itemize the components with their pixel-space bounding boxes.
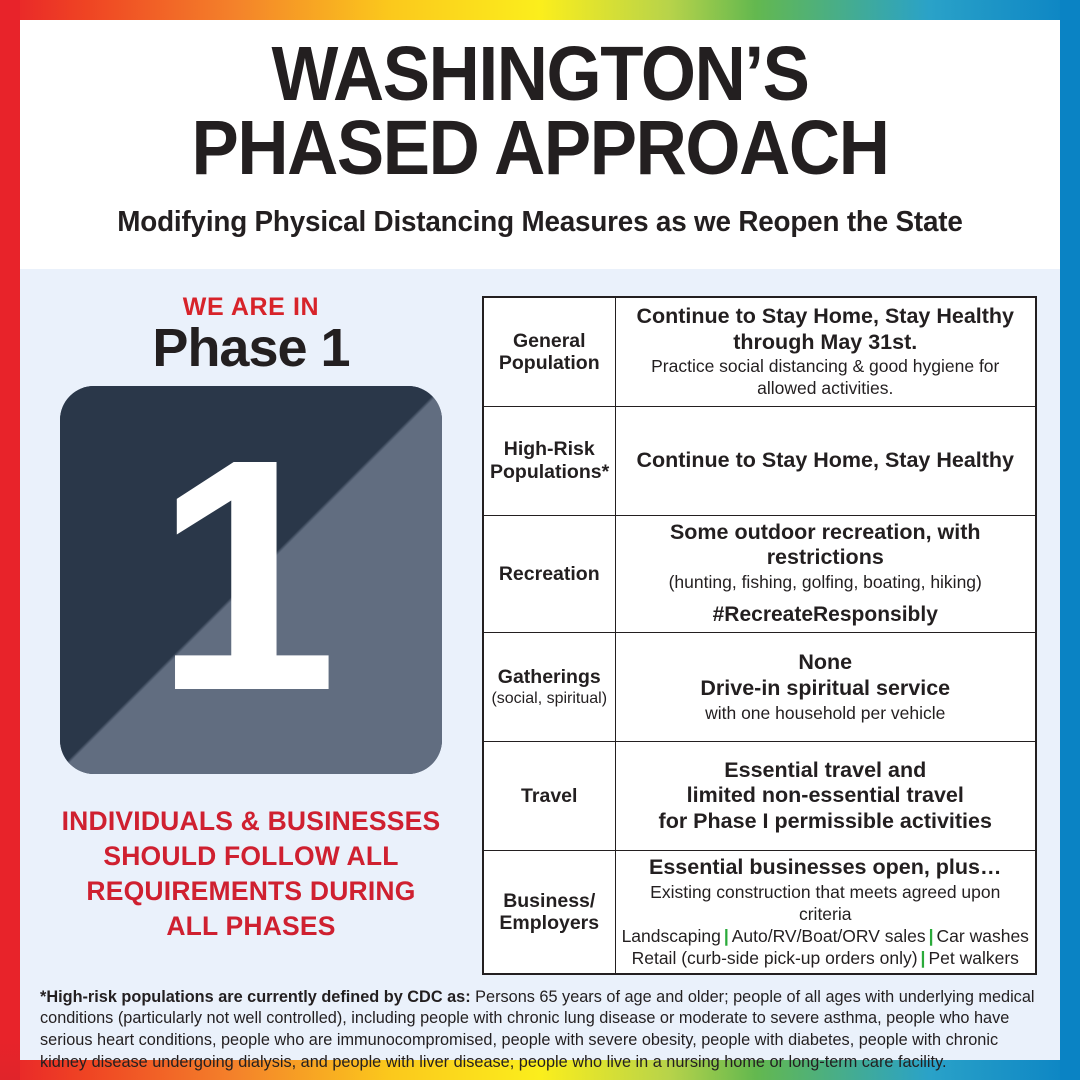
separator-pipe-icon: | bbox=[926, 926, 937, 946]
table-row: Business/EmployersEssential businesses o… bbox=[483, 851, 1036, 974]
table-row-category: GeneralPopulation bbox=[483, 297, 615, 406]
detail-line: None bbox=[622, 650, 1030, 676]
detail-line: Retail (curb-side pick-up orders only)|P… bbox=[622, 947, 1030, 969]
page-title-line-1: WASHINGTON’S bbox=[62, 38, 1019, 112]
table-row: TravelEssential travel andlimited non-es… bbox=[483, 742, 1036, 851]
detail-line: (hunting, fishing, golfing, boating, hik… bbox=[622, 571, 1030, 593]
detail-line: Landscaping|Auto/RV/Boat/ORV sales|Car w… bbox=[622, 925, 1030, 947]
rainbow-border-top bbox=[0, 0, 1080, 20]
table-row: High-RiskPopulations*Continue to Stay Ho… bbox=[483, 406, 1036, 515]
category-main: Gatherings bbox=[498, 666, 601, 688]
detail-line: limited non-essential travel bbox=[622, 783, 1030, 809]
detail-line: Continue to Stay Home, Stay Healthy bbox=[622, 448, 1030, 474]
table-row: GeneralPopulationContinue to Stay Home, … bbox=[483, 297, 1036, 406]
phase-number-glyph: 1 bbox=[60, 386, 442, 774]
poster-inner: WASHINGTON’S PHASED APPROACH Modifying P… bbox=[20, 20, 1060, 1060]
category-main: Recreation bbox=[499, 563, 600, 585]
border-right-blue bbox=[1060, 0, 1080, 1080]
phase-guidelines-table: GeneralPopulationContinue to Stay Home, … bbox=[482, 296, 1037, 975]
separator-pipe-icon: | bbox=[721, 926, 732, 946]
requirements-callout-line-1: INDIVIDUALS & BUSINESSES bbox=[28, 804, 474, 839]
footnote-lead: *High-risk populations are currently def… bbox=[40, 988, 471, 1006]
requirements-callout: INDIVIDUALS & BUSINESSES SHOULD FOLLOW A… bbox=[28, 804, 474, 945]
detail-line: Practice social distancing & good hygien… bbox=[622, 355, 1030, 399]
detail-segment: Pet walkers bbox=[928, 948, 1018, 968]
category-main-2: Populations* bbox=[490, 461, 609, 483]
poster-header: WASHINGTON’S PHASED APPROACH Modifying P… bbox=[20, 20, 1060, 269]
category-main: Travel bbox=[521, 785, 577, 807]
detail-line: Drive-in spiritual service bbox=[622, 676, 1030, 702]
category-main-2: Population bbox=[499, 352, 600, 374]
phase-number-badge: 1 bbox=[60, 386, 442, 774]
category-main-2: Employers bbox=[499, 912, 599, 934]
table-row-category: Gatherings(social, spiritual) bbox=[483, 633, 615, 742]
separator-pipe-icon: | bbox=[918, 948, 929, 968]
detail-segment: Auto/RV/Boat/ORV sales bbox=[732, 926, 926, 946]
category-main: General bbox=[513, 330, 586, 352]
detail-line: for Phase I permissible activities bbox=[622, 809, 1030, 835]
category-main: Business/ bbox=[503, 890, 595, 912]
requirements-callout-line-4: ALL PHASES bbox=[28, 909, 474, 944]
guidelines-table-body: GeneralPopulationContinue to Stay Home, … bbox=[483, 297, 1036, 974]
table-row-detail: Essential businesses open, plus…Existing… bbox=[615, 851, 1036, 974]
detail-segment: Car washes bbox=[937, 926, 1029, 946]
poster-body: WE ARE IN Phase 1 1 INDIVIDUALS & BUSINE… bbox=[20, 269, 1060, 975]
page-title-line-2: PHASED APPROACH bbox=[62, 112, 1019, 186]
high-risk-footnote: *High-risk populations are currently def… bbox=[20, 975, 1060, 1080]
table-row-detail: NoneDrive-in spiritual servicewith one h… bbox=[615, 633, 1036, 742]
table-row-detail: Continue to Stay Home, Stay Healthy bbox=[615, 406, 1036, 515]
detail-segment: Landscaping bbox=[622, 926, 721, 946]
detail-line: with one household per vehicle bbox=[622, 702, 1030, 724]
table-row-category: Travel bbox=[483, 742, 615, 851]
table-row-category: Recreation bbox=[483, 515, 615, 633]
detail-line: Existing construction that meets agreed … bbox=[622, 881, 1030, 925]
border-left-red bbox=[0, 0, 20, 1080]
table-row-detail: Continue to Stay Home, Stay Healthythrou… bbox=[615, 297, 1036, 406]
infographic-poster: WASHINGTON’S PHASED APPROACH Modifying P… bbox=[0, 0, 1080, 1080]
detail-line: Essential businesses open, plus… bbox=[622, 855, 1030, 881]
requirements-callout-line-3: REQUIREMENTS DURING bbox=[28, 874, 474, 909]
table-row-category: High-RiskPopulations* bbox=[483, 406, 615, 515]
table-row-detail: Essential travel andlimited non-essentia… bbox=[615, 742, 1036, 851]
table-row: Gatherings(social, spiritual)NoneDrive-i… bbox=[483, 633, 1036, 742]
requirements-callout-line-2: SHOULD FOLLOW ALL bbox=[28, 839, 474, 874]
phase-status-panel: WE ARE IN Phase 1 1 INDIVIDUALS & BUSINE… bbox=[20, 269, 482, 975]
detail-line: #RecreateResponsibly bbox=[622, 601, 1030, 628]
detail-line: Some outdoor recreation, with restrictio… bbox=[622, 520, 1030, 571]
detail-line: through May 31st. bbox=[622, 330, 1030, 356]
page-subtitle: Modifying Physical Distancing Measures a… bbox=[41, 206, 1039, 239]
table-row-category: Business/Employers bbox=[483, 851, 615, 974]
category-main: High-Risk bbox=[504, 438, 595, 460]
detail-line: Continue to Stay Home, Stay Healthy bbox=[622, 304, 1030, 330]
detail-segment: Retail (curb-side pick-up orders only) bbox=[632, 948, 918, 968]
detail-line: Essential travel and bbox=[622, 758, 1030, 784]
category-sub: (social, spiritual) bbox=[490, 689, 609, 708]
table-row: RecreationSome outdoor recreation, with … bbox=[483, 515, 1036, 633]
guidelines-table-wrapper: GeneralPopulationContinue to Stay Home, … bbox=[482, 269, 1060, 975]
table-row-detail: Some outdoor recreation, with restrictio… bbox=[615, 515, 1036, 633]
current-phase-label: Phase 1 bbox=[28, 320, 474, 377]
